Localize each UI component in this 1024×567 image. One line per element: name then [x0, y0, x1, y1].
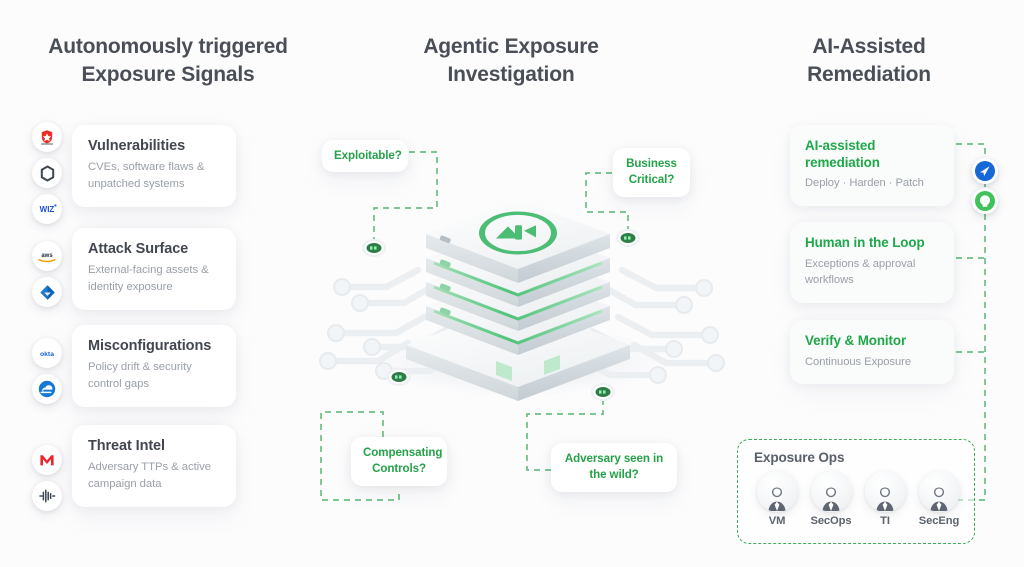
jira-badge-icon[interactable]	[972, 158, 998, 184]
aws-logo-icon[interactable]: aws	[32, 241, 62, 271]
signal-icons-attack-surface: aws	[32, 241, 62, 307]
exposure-ops-label: TI	[864, 515, 906, 527]
exposure-ops-label: VM	[756, 515, 798, 527]
remediation-card-human-in-the-loop[interactable]: Human in the Loop Exceptions & approval …	[790, 222, 954, 303]
isometric-server-stack-illustration	[300, 175, 740, 405]
title-left-line1: Autonomously triggered	[20, 33, 316, 61]
signal-icons-threat-intel	[32, 445, 62, 511]
qualys-logo-icon[interactable]	[32, 122, 62, 152]
column-title-center: Agentic Exposure Investigation	[360, 33, 662, 89]
remediation-title: Human in the Loop	[805, 235, 940, 252]
signal-title: Misconfigurations	[88, 338, 222, 355]
avatar-icon	[757, 471, 798, 512]
signal-desc: CVEs, software flaws & unpatched systems	[88, 159, 222, 192]
avatar-icon	[811, 471, 852, 512]
title-left-line2: Exposure Signals	[20, 61, 316, 89]
servicenow-badge-icon[interactable]	[972, 188, 998, 214]
remediation-desc: Deploy · Harden · Patch	[805, 175, 940, 192]
mandiant-logo-icon[interactable]	[32, 445, 62, 475]
title-right-line1: AI-Assisted	[735, 33, 1003, 61]
signal-title: Threat Intel	[88, 438, 222, 455]
question-bubble-adversary-seen[interactable]: Adversary seen in the wild?	[551, 443, 677, 492]
okta-logo-icon[interactable]: okta	[32, 338, 62, 368]
title-center-line2: Investigation	[360, 61, 662, 89]
exposure-ops-person[interactable]: VM	[756, 471, 798, 527]
cloud-shield-logo-icon[interactable]	[32, 374, 62, 404]
exposure-ops-panel[interactable]: Exposure Ops VM	[737, 439, 975, 544]
signal-card-misconfigurations[interactable]: Misconfigurations Policy drift & securit…	[72, 325, 236, 407]
tenable-logo-icon[interactable]	[32, 158, 62, 188]
exposure-ops-person[interactable]: SecEng	[918, 471, 960, 527]
remediation-card-ai-assisted[interactable]: AI-assisted remediation Deploy · Harden …	[790, 125, 954, 206]
remediation-title: Verify & Monitor	[805, 333, 940, 350]
title-center-line1: Agentic Exposure	[360, 33, 662, 61]
signal-desc: Adversary TTPs & active campaign data	[88, 459, 222, 492]
exposure-ops-person[interactable]: TI	[864, 471, 906, 527]
exposure-ops-title: Exposure Ops	[754, 450, 960, 465]
azure-logo-icon[interactable]	[32, 277, 62, 307]
signal-title: Attack Surface	[88, 241, 222, 258]
column-title-left: Autonomously triggered Exposure Signals	[20, 33, 316, 89]
signal-title: Vulnerabilities	[88, 138, 222, 155]
exposure-ops-label: SecEng	[918, 515, 960, 527]
remediation-card-verify-monitor[interactable]: Verify & Monitor Continuous Exposure	[790, 320, 954, 384]
signal-card-vulnerabilities[interactable]: Vulnerabilities CVEs, software flaws & u…	[72, 125, 236, 207]
title-right-line2: Remediation	[735, 61, 1003, 89]
signal-desc: Policy drift & security control gaps	[88, 359, 222, 392]
signal-desc: External-facing assets & identity exposu…	[88, 262, 222, 295]
question-bubble-exploitable[interactable]: Exploitable?	[322, 140, 408, 172]
exposure-ops-person[interactable]: SecOps	[810, 471, 852, 527]
remediation-desc: Continuous Exposure	[805, 354, 940, 371]
remediation-title: AI-assisted remediation	[805, 138, 940, 171]
signal-card-attack-surface[interactable]: Attack Surface External-facing assets & …	[72, 228, 236, 310]
wiz-logo-icon[interactable]: WIZ	[32, 194, 62, 224]
avatar-icon	[865, 471, 906, 512]
remediation-desc: Exceptions & approval workflows	[805, 256, 940, 289]
question-bubble-compensating-controls[interactable]: Compensating Controls?	[351, 437, 447, 486]
avatar-icon	[919, 471, 960, 512]
signal-icons-vulnerabilities: WIZ	[32, 122, 62, 224]
waveform-logo-icon[interactable]	[32, 481, 62, 511]
svg-text:okta: okta	[40, 351, 54, 358]
question-bubble-business-critical[interactable]: Business Critical?	[613, 148, 690, 197]
signal-card-threat-intel[interactable]: Threat Intel Adversary TTPs & active cam…	[72, 425, 236, 507]
signal-icons-misconfigurations: okta	[32, 338, 62, 404]
exposure-ops-people-row: VM SecOps	[754, 471, 960, 527]
column-title-right: AI-Assisted Remediation	[735, 33, 1003, 89]
diagram-canvas: Autonomously triggered Exposure Signals …	[0, 0, 1024, 567]
exposure-ops-label: SecOps	[810, 515, 852, 527]
svg-text:WIZ: WIZ	[40, 205, 55, 214]
svg-text:aws: aws	[41, 253, 53, 259]
